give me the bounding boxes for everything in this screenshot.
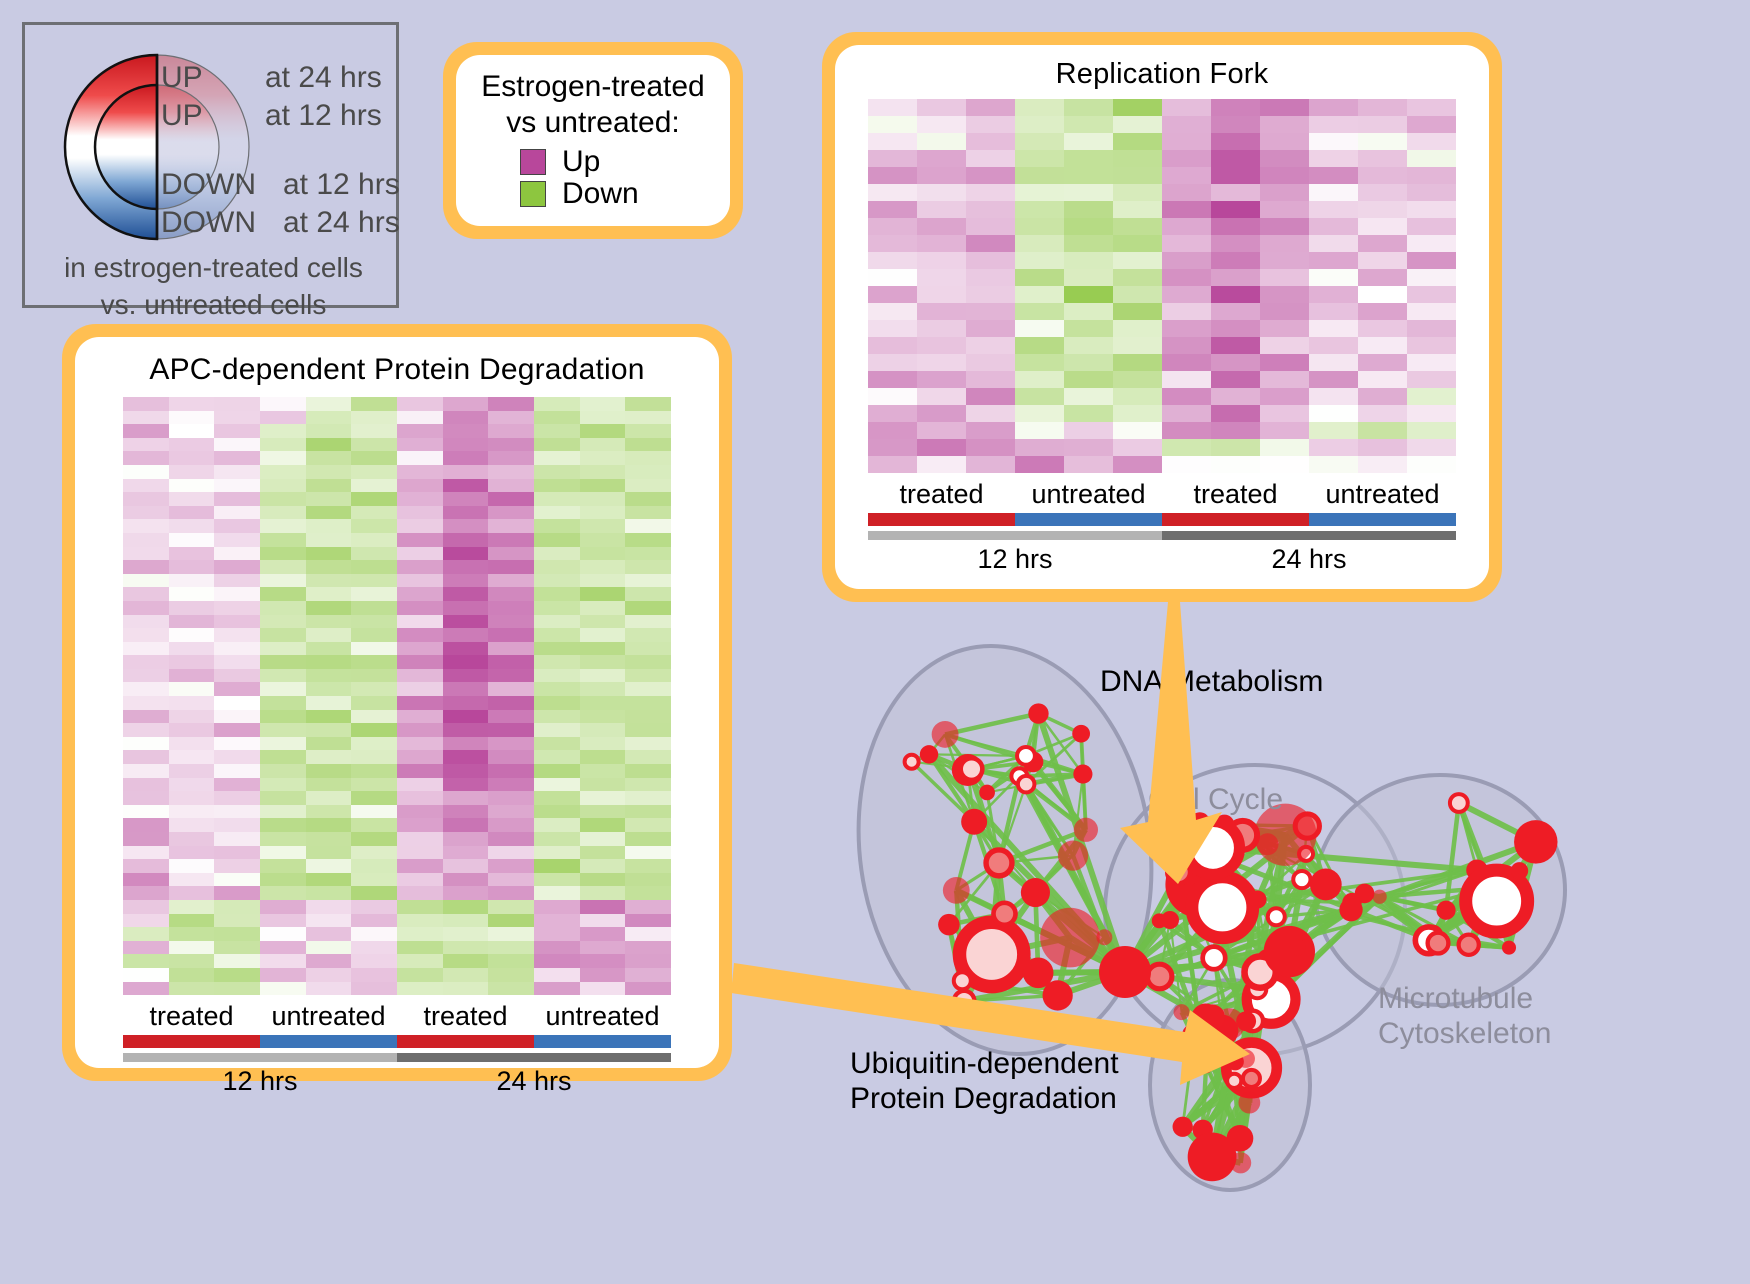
heatmap-cell [1260, 167, 1309, 184]
heatmap-cell [488, 451, 534, 465]
heatmap-cell [534, 832, 580, 846]
heatmap-cell [1260, 150, 1309, 167]
heatmap-cell [443, 710, 489, 724]
heatmap-cell [625, 710, 671, 724]
heatmap-cell [260, 451, 306, 465]
heatmap-cell [1358, 456, 1407, 473]
heatmap-cell [443, 587, 489, 601]
color-key-footer: in estrogen-treated cells vs. untreated … [25, 250, 402, 324]
heatmap-cell [260, 669, 306, 683]
heatmap-cell [488, 818, 534, 832]
heatmap-cell [868, 456, 917, 473]
heatmap-cell [123, 601, 169, 615]
heatmap-cell [351, 982, 397, 996]
heatmap-cell [306, 968, 352, 982]
heatmap-cell [260, 723, 306, 737]
heatmap-cell [306, 750, 352, 764]
heatmap-cell [534, 737, 580, 751]
heatmap-cell [488, 587, 534, 601]
heatmap-cell [625, 547, 671, 561]
heatmap-cell [1064, 252, 1113, 269]
heatmap-cell [169, 682, 215, 696]
heatmap-cell [260, 818, 306, 832]
heatmap-cell [1113, 320, 1162, 337]
heatmap-cell [306, 710, 352, 724]
heatmap-cell [306, 900, 352, 914]
heatmap-cell [534, 655, 580, 669]
heatmap-cell [534, 465, 580, 479]
legend-entry-down: Down [520, 179, 730, 209]
heatmap-cell [1309, 150, 1358, 167]
heatmap-cell [214, 982, 260, 996]
heatmap-cell [1407, 286, 1456, 303]
heatmap-cell [169, 750, 215, 764]
heatmap-cell [260, 791, 306, 805]
heatmap-cell [1113, 388, 1162, 405]
heatmap-cell [260, 628, 306, 642]
heatmap-cell [1162, 167, 1211, 184]
heatmap-cell [625, 628, 671, 642]
color-key-footer-line1: in estrogen-treated cells [25, 250, 402, 287]
heatmap-cell [580, 547, 626, 561]
heatmap-cell [214, 560, 260, 574]
heatmap-cell [488, 954, 534, 968]
heatmap-cell [169, 642, 215, 656]
heatmap-cell [580, 791, 626, 805]
heatmap-cell [534, 764, 580, 778]
heatmap-cell [1260, 235, 1309, 252]
heatmap-cell [1015, 116, 1064, 133]
heatmap-cell [397, 750, 443, 764]
heatmap-cell [214, 914, 260, 928]
heatmap-cell [397, 519, 443, 533]
condition-bar-1 [260, 1035, 397, 1048]
heatmap-cell [625, 424, 671, 438]
heatmap-cell [169, 832, 215, 846]
heatmap-cell [169, 438, 215, 452]
heatmap-cell [488, 927, 534, 941]
heatmap-cell [123, 682, 169, 696]
heatmap-cell [214, 682, 260, 696]
heatmap-cell [260, 750, 306, 764]
cluster-label-ubiquitin-line1: Ubiquitin-dependent [850, 1047, 1119, 1082]
heatmap-cell [534, 533, 580, 547]
heatmap-cell [1064, 150, 1113, 167]
heatmap-cell [123, 560, 169, 574]
cluster-label-ubiquitin: Ubiquitin-dependent Protein Degradation [850, 1047, 1119, 1116]
replication-fork-panel: Replication Fork treated untreated treat… [822, 32, 1502, 602]
heatmap-cell [1260, 422, 1309, 439]
heatmap-cell [1162, 235, 1211, 252]
heatmap-cell [306, 519, 352, 533]
heatmap-cell [306, 791, 352, 805]
heatmap-cell [534, 397, 580, 411]
heatmap-cell [868, 337, 917, 354]
timepoint-label-24: 24 hrs [1162, 540, 1456, 575]
heatmap-cell [306, 982, 352, 996]
heatmap-cell [1162, 184, 1211, 201]
heatmap-cell [1211, 405, 1260, 422]
condition-bar-0 [123, 1035, 260, 1048]
heatmap-cell [1309, 439, 1358, 456]
heatmap-cell [488, 547, 534, 561]
heatmap-cell [443, 832, 489, 846]
heatmap-cell [260, 574, 306, 588]
heatmap-cell [397, 587, 443, 601]
heatmap-cell [214, 642, 260, 656]
heatmap-cell [260, 873, 306, 887]
heatmap-cell [1113, 235, 1162, 252]
key-hrs-up-24: at 24 hrs [265, 61, 382, 95]
heatmap-cell [917, 371, 966, 388]
heatmap-cell [625, 778, 671, 792]
heatmap-cell [260, 601, 306, 615]
condition-label-0: treated [868, 473, 1015, 513]
heatmap-cell [1064, 439, 1113, 456]
heatmap-cell [1309, 422, 1358, 439]
heatmap-cell [1113, 252, 1162, 269]
condition-label-1: untreated [1015, 473, 1162, 513]
timepoint-bar-12 [868, 531, 1162, 540]
heatmap-cell [625, 900, 671, 914]
heatmap-cell [868, 405, 917, 422]
heatmap-cell [351, 737, 397, 751]
heatmap-cell [534, 927, 580, 941]
heatmap-cell [625, 954, 671, 968]
heatmap-cell [1358, 201, 1407, 218]
heatmap-cell [625, 397, 671, 411]
heatmap-cell [351, 669, 397, 683]
heatmap-cell [917, 235, 966, 252]
heatmap-cell [1211, 133, 1260, 150]
heatmap-cell [625, 669, 671, 683]
heatmap-cell [966, 201, 1015, 218]
heatmap-cell [1064, 354, 1113, 371]
heatmap-cell [488, 506, 534, 520]
heatmap-cell [580, 411, 626, 425]
heatmap-cell [169, 492, 215, 506]
heatmap-cell [1260, 371, 1309, 388]
heatmap-cell [1015, 405, 1064, 422]
heatmap-cell [443, 601, 489, 615]
replication-fork-heatmap [868, 99, 1456, 473]
heatmap-cell [1260, 320, 1309, 337]
key-label-up-12: UP [161, 99, 203, 133]
heatmap-cell [580, 438, 626, 452]
heatmap-cell [917, 422, 966, 439]
heatmap-cell [169, 982, 215, 996]
heatmap-cell [1211, 235, 1260, 252]
heatmap-cell [1407, 150, 1456, 167]
heatmap-cell [306, 846, 352, 860]
heatmap-cell [625, 791, 671, 805]
heatmap-cell [580, 900, 626, 914]
heatmap-cell [1260, 99, 1309, 116]
heatmap-cell [966, 388, 1015, 405]
heatmap-cell [351, 900, 397, 914]
heatmap-cell [534, 506, 580, 520]
heatmap-cell [534, 587, 580, 601]
heatmap-cell [306, 723, 352, 737]
heatmap-cell [123, 615, 169, 629]
heatmap-cell [1407, 218, 1456, 235]
heatmap-cell [397, 615, 443, 629]
heatmap-cell [580, 832, 626, 846]
heatmap-cell [260, 710, 306, 724]
heatmap-cell [580, 873, 626, 887]
heatmap-cell [351, 914, 397, 928]
heatmap-cell [580, 805, 626, 819]
heatmap-cell [214, 968, 260, 982]
heatmap-cell [169, 560, 215, 574]
heatmap-cell [625, 859, 671, 873]
heatmap-cell [1309, 354, 1358, 371]
heatmap-cell [1162, 456, 1211, 473]
timepoint-labels: 12 hrs 24 hrs [868, 540, 1456, 575]
legend-swatch-up [520, 149, 546, 175]
heatmap-cell [580, 601, 626, 615]
heatmap-cell [625, 533, 671, 547]
heatmap-cell [488, 846, 534, 860]
heatmap-cell [214, 954, 260, 968]
heatmap-cell [868, 252, 917, 269]
heatmap-cell [169, 859, 215, 873]
heatmap-cell [123, 506, 169, 520]
heatmap-cell [625, 411, 671, 425]
heatmap-cell [580, 750, 626, 764]
heatmap-cell [625, 941, 671, 955]
heatmap-cell [214, 411, 260, 425]
heatmap-cell [443, 764, 489, 778]
heatmap-cell [351, 941, 397, 955]
condition-label-2: treated [1162, 473, 1309, 513]
heatmap-cell [214, 723, 260, 737]
heatmap-cell [625, 587, 671, 601]
heatmap-cell [260, 859, 306, 873]
heatmap-cell [214, 574, 260, 588]
heatmap-cell [966, 337, 1015, 354]
heatmap-cell [169, 914, 215, 928]
heatmap-cell [169, 791, 215, 805]
heatmap-cell [1113, 150, 1162, 167]
heatmap-cell [534, 954, 580, 968]
heatmap-cell [214, 750, 260, 764]
heatmap-cell [351, 574, 397, 588]
heatmap-cell [488, 723, 534, 737]
heatmap-cell [397, 778, 443, 792]
heatmap-cell [306, 587, 352, 601]
heatmap-cell [306, 886, 352, 900]
heatmap-cell [1358, 337, 1407, 354]
heatmap-cell [1064, 116, 1113, 133]
heatmap-cell [397, 438, 443, 452]
heatmap-cell [123, 968, 169, 982]
heatmap-cell [306, 737, 352, 751]
heatmap-cell [1211, 218, 1260, 235]
heatmap-cell [625, 479, 671, 493]
heatmap-cell [443, 941, 489, 955]
replication-fork-title: Replication Fork [835, 45, 1489, 99]
heatmap-cell [1358, 235, 1407, 252]
heatmap-cell [306, 574, 352, 588]
color-key-footer-line2: vs. untreated cells [25, 287, 402, 324]
heatmap-cell [214, 832, 260, 846]
heatmap-cell [260, 832, 306, 846]
heatmap-cell [443, 859, 489, 873]
heatmap-cell [351, 968, 397, 982]
heatmap-cell [397, 968, 443, 982]
heatmap-cell [397, 805, 443, 819]
heatmap-cell [1064, 388, 1113, 405]
heatmap-cell [123, 547, 169, 561]
heatmap-cell [1358, 252, 1407, 269]
heatmap-cell [534, 451, 580, 465]
heatmap-cell [580, 424, 626, 438]
heatmap-cell [534, 669, 580, 683]
heatmap-cell [488, 710, 534, 724]
heatmap-cell [580, 710, 626, 724]
heatmap-cell [214, 506, 260, 520]
heatmap-cell [1113, 269, 1162, 286]
cluster-label-microtubule-line2: Cytoskeleton [1378, 1017, 1551, 1052]
heatmap-cell [397, 411, 443, 425]
heatmap-cell [917, 354, 966, 371]
heatmap-cell [1211, 388, 1260, 405]
condition-bar-2 [1162, 513, 1309, 526]
heatmap-cell [488, 696, 534, 710]
heatmap-cell [443, 465, 489, 479]
heatmap-cell [1064, 286, 1113, 303]
heatmap-cell [169, 710, 215, 724]
heatmap-cell [917, 337, 966, 354]
heatmap-cell [260, 465, 306, 479]
heatmap-cell [397, 954, 443, 968]
heatmap-cell [351, 411, 397, 425]
heatmap-cell [534, 873, 580, 887]
heatmap-cell [966, 286, 1015, 303]
heatmap-cell [351, 832, 397, 846]
heatmap-cell [260, 778, 306, 792]
heatmap-cell [443, 397, 489, 411]
heatmap-cell [123, 424, 169, 438]
heatmap-cell [1015, 337, 1064, 354]
heatmap-cell [306, 927, 352, 941]
heatmap-cell [917, 303, 966, 320]
heatmap-cell [397, 696, 443, 710]
heatmap-cell [397, 900, 443, 914]
heatmap-cell [1064, 235, 1113, 252]
heatmap-cell [1162, 133, 1211, 150]
heatmap-cell [1162, 439, 1211, 456]
heatmap-cell [488, 479, 534, 493]
heatmap-cell [580, 506, 626, 520]
legend-swatch-down [520, 181, 546, 207]
heatmap-cell [397, 846, 443, 860]
heatmap-cell [488, 424, 534, 438]
heatmap-cell [443, 750, 489, 764]
heatmap-cell [1162, 218, 1211, 235]
heatmap-cell [1211, 167, 1260, 184]
heatmap-cell [534, 479, 580, 493]
heatmap-cell [214, 710, 260, 724]
heatmap-cell [1064, 422, 1113, 439]
heatmap-cell [1407, 456, 1456, 473]
heatmap-cell [1015, 201, 1064, 218]
heatmap-cell [260, 560, 306, 574]
heatmap-cell [1015, 150, 1064, 167]
heatmap-cell [351, 465, 397, 479]
heatmap-cell [351, 696, 397, 710]
heatmap-cell [1260, 354, 1309, 371]
heatmap-cell [397, 533, 443, 547]
heatmap-cell [917, 388, 966, 405]
heatmap-cell [123, 397, 169, 411]
heatmap-cell [1260, 439, 1309, 456]
heatmap-cell [534, 941, 580, 955]
condition-color-bar [123, 1035, 671, 1048]
heatmap-cell [1211, 371, 1260, 388]
heatmap-cell [1358, 422, 1407, 439]
heatmap-cell [1358, 269, 1407, 286]
heatmap-cell [397, 655, 443, 669]
heatmap-cell [123, 696, 169, 710]
heatmap-cell [351, 886, 397, 900]
heatmap-cell [214, 805, 260, 819]
heatmap-cell [625, 982, 671, 996]
heatmap-cell [625, 465, 671, 479]
pathway-network-diagram: DNA Metabolism Cell Cycle Microtubule Cy… [800, 620, 1750, 1279]
heatmap-cell [123, 954, 169, 968]
heatmap-cell [169, 927, 215, 941]
heatmap-cell [1309, 218, 1358, 235]
heatmap-cell [260, 737, 306, 751]
heatmap-cell [625, 682, 671, 696]
heatmap-cell [1358, 218, 1407, 235]
heatmap-cell [488, 900, 534, 914]
heatmap-cell [260, 682, 306, 696]
heatmap-cell [214, 791, 260, 805]
heatmap-cell [1407, 320, 1456, 337]
heatmap-cell [351, 533, 397, 547]
heatmap-cell [306, 642, 352, 656]
heatmap-cell [123, 900, 169, 914]
heatmap-cell [351, 424, 397, 438]
heatmap-cell [1260, 456, 1309, 473]
heatmap-cell [1211, 354, 1260, 371]
heatmap-cell [1260, 116, 1309, 133]
heatmap-cell [1358, 167, 1407, 184]
heatmap-cell [1162, 303, 1211, 320]
heatmap-cell [351, 601, 397, 615]
heatmap-cell [214, 465, 260, 479]
heatmap-cell [397, 941, 443, 955]
heatmap-cell [625, 764, 671, 778]
heatmap-cell [534, 424, 580, 438]
heatmap-cell [123, 941, 169, 955]
heatmap-cell [1260, 337, 1309, 354]
timepoint-bar-12 [123, 1053, 397, 1062]
heatmap-cell [534, 601, 580, 615]
heatmap-cell [306, 805, 352, 819]
heatmap-cell [1015, 320, 1064, 337]
heatmap-cell [1358, 388, 1407, 405]
heatmap-cell [351, 628, 397, 642]
heatmap-cell [397, 914, 443, 928]
heatmap-cell [214, 628, 260, 642]
heatmap-cell [1309, 116, 1358, 133]
heatmap-cell [351, 451, 397, 465]
timepoint-bar-24 [397, 1053, 671, 1062]
